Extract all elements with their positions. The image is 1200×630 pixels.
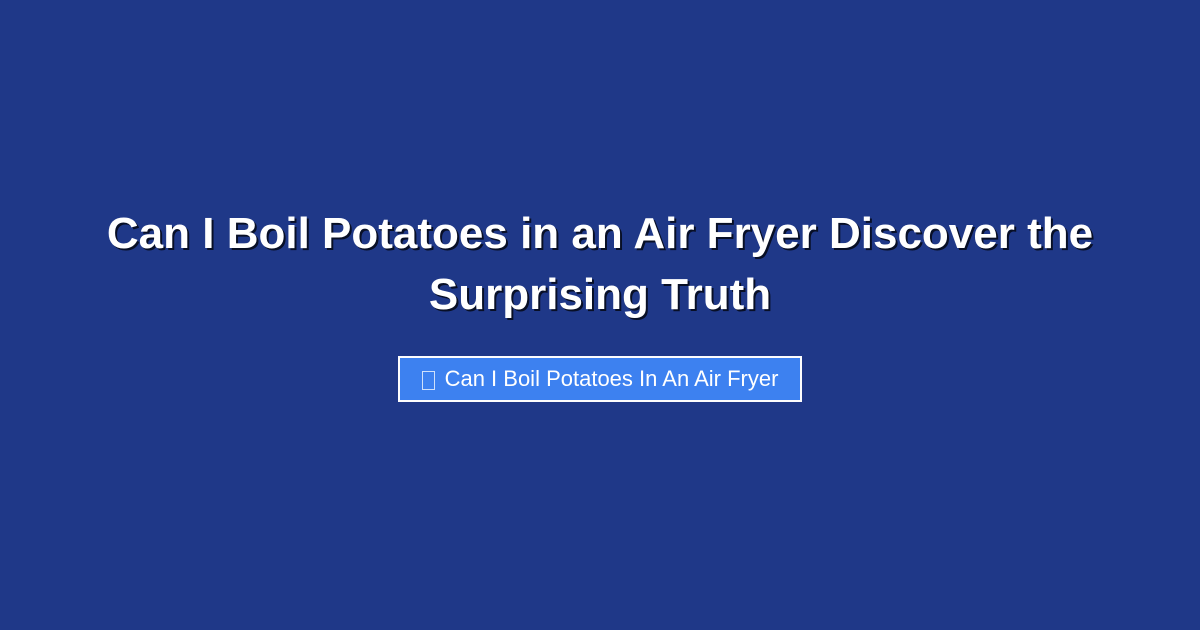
cta-button-label: Can I Boil Potatoes In An Air Fryer: [445, 368, 779, 390]
page-title: Can I Boil Potatoes in an Air Fryer Disc…: [50, 203, 1150, 325]
cta-container: Can I Boil Potatoes In An Air Fryer: [0, 356, 1200, 402]
missing-glyph-tofu-icon: [422, 371, 435, 390]
og-image-card: Can I Boil Potatoes in an Air Fryer Disc…: [0, 0, 1200, 630]
can-i-boil-potatoes-in-an-air-fryer-button[interactable]: Can I Boil Potatoes In An Air Fryer: [398, 356, 803, 402]
